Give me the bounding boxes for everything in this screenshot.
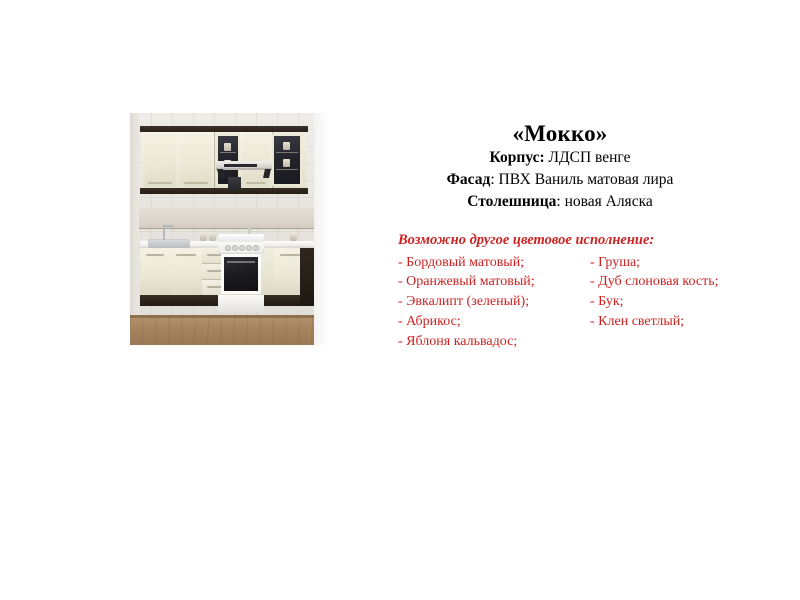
- color-option-item: - Бук;: [590, 292, 738, 312]
- glass-shelf: [276, 152, 298, 153]
- color-option-item: - Груша;: [590, 253, 738, 273]
- lower-door-handle: [176, 254, 196, 256]
- color-option-item: - Клен светлый;: [590, 312, 738, 332]
- color-option-item: - Бордовый матовый;: [398, 253, 590, 273]
- spec-line-stoleshnica: Столешница: новая Аляска: [360, 191, 760, 213]
- range-hood-bracket-left: [217, 169, 225, 178]
- lower-door-handle: [146, 254, 164, 256]
- counter-jar: [200, 232, 207, 241]
- product-title: «Мокко»: [360, 120, 760, 147]
- color-option-item: - Абрикос;: [398, 312, 590, 332]
- spec-label-stoleshnica: Столешница: [467, 193, 556, 210]
- spec-value-fasad: : ПВХ Ваниль матовая лира: [490, 171, 673, 188]
- color-options-title: Возможно другое цветовое исполнение:: [398, 231, 738, 251]
- kitchen-photo: [130, 113, 330, 345]
- backsplash-line: [139, 228, 314, 229]
- glass-display-cabinet-right: [272, 134, 302, 186]
- range-hood-bracket-right: [263, 169, 271, 178]
- counter-jar: [209, 232, 216, 241]
- spec-label-fasad: Фасад: [447, 171, 491, 188]
- wall-left-edge: [130, 113, 139, 317]
- page-root: { "colors": { "page_background": "#fffff…: [0, 0, 800, 600]
- color-options-right-column: - Груша; - Дуб слоновая кость; - Бук; - …: [590, 253, 738, 333]
- range-hood-duct-box: [228, 177, 241, 190]
- stove-cooktop: [218, 234, 264, 242]
- color-option-item: - Дуб слоновая кость;: [590, 272, 738, 292]
- lower-door-handle: [280, 254, 302, 256]
- glass-item: [224, 143, 231, 151]
- spec-value-korpus: ЛДСП венге: [545, 149, 631, 166]
- glass-item: [283, 159, 290, 167]
- color-options-columns: - Бордовый матовый; - Оранжевый матовый;…: [398, 253, 738, 352]
- spec-value-stoleshnica: : новая Аляска: [556, 193, 652, 210]
- range-hood-edge: [216, 168, 272, 170]
- wood-floor: [130, 317, 330, 345]
- counter-jar: [290, 232, 297, 241]
- glass-shelf: [220, 152, 236, 153]
- product-heading-block: «Мокко» Корпус: ЛДСП венге Фасад: ПВХ Ва…: [360, 120, 760, 213]
- glass-shelf: [276, 169, 298, 170]
- wall-right-edge: [314, 113, 330, 345]
- color-option-item: - Яблоня кальвадос;: [398, 332, 590, 352]
- stove: [218, 234, 264, 312]
- upper-cabinet-bottom-trim: [140, 188, 308, 194]
- color-option-item: - Эвкалипт (зеленый);: [398, 292, 590, 312]
- glass-item: [283, 142, 290, 150]
- spec-line-korpus: Корпус: ЛДСП венге: [360, 147, 760, 169]
- floor-skirting: [130, 315, 330, 318]
- range-hood: [216, 157, 272, 179]
- stove-oven-door: [221, 254, 261, 294]
- color-options-left-column: - Бордовый матовый; - Оранжевый матовый;…: [398, 253, 590, 352]
- range-hood-control-strip: [224, 164, 258, 167]
- upper-door-2: [178, 132, 215, 188]
- kitchen-photo-scene: [130, 113, 330, 345]
- stove-base-drawer: [218, 295, 264, 312]
- color-option-item: - Оранжевый матовый;: [398, 272, 590, 292]
- faucet: [163, 225, 165, 240]
- upper-door-1: [142, 132, 179, 188]
- color-options-block: Возможно другое цветовое исполнение: - Б…: [398, 231, 738, 352]
- spec-line-fasad: Фасад: ПВХ Ваниль матовая лира: [360, 169, 760, 191]
- spec-label-korpus: Корпус:: [490, 149, 545, 166]
